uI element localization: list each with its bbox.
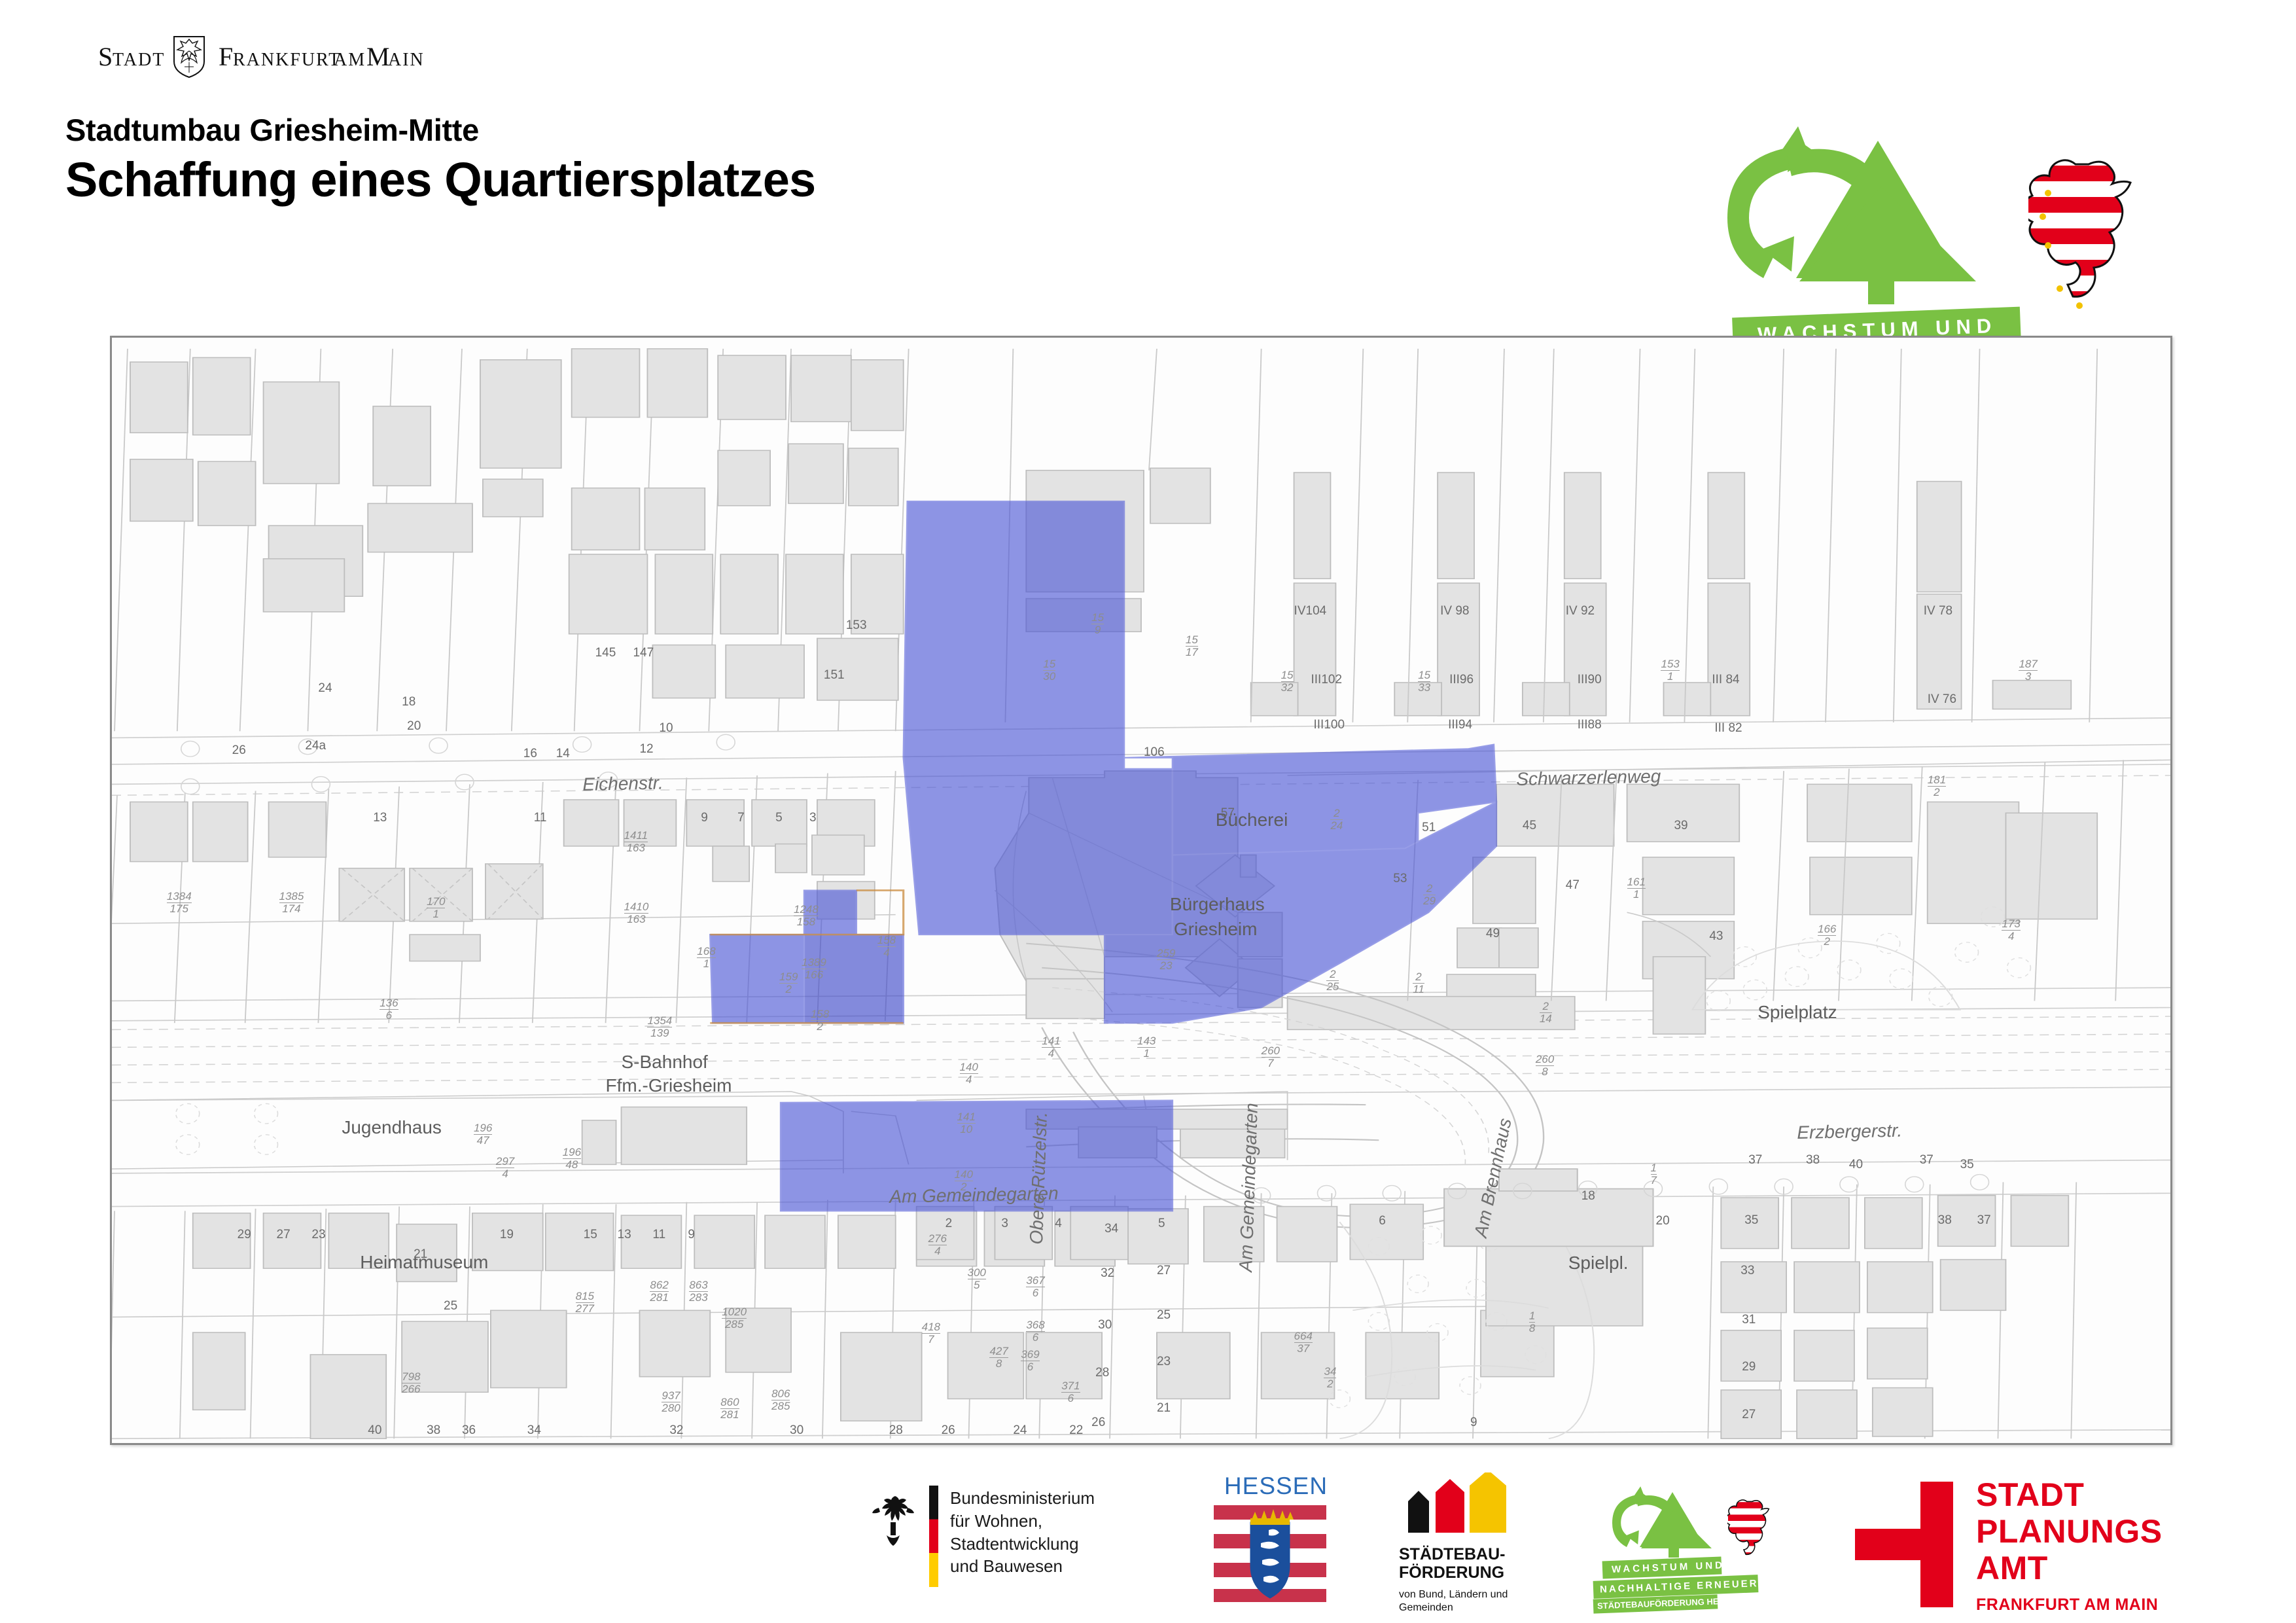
- parcel-number: 19648: [563, 1147, 581, 1170]
- parcel-number: 1533: [1418, 669, 1430, 693]
- parcel-number: 3676: [1026, 1275, 1044, 1298]
- parcel-number: 224: [1330, 808, 1343, 831]
- svg-text:M: M: [366, 42, 390, 71]
- parcel-number: 1384175: [167, 891, 192, 914]
- svg-text:RANKFURT: RANKFURT: [233, 50, 341, 70]
- parcel-number: 229: [1423, 883, 1436, 906]
- parcel-number: 2974: [496, 1156, 514, 1179]
- house-number: III100: [1313, 718, 1345, 732]
- house-number: 36: [462, 1423, 476, 1438]
- program-footer-band2: NACHHALTIGE ERNEUERUNG: [1593, 1575, 1759, 1599]
- bmwsb-line1: Bundesministerium: [950, 1487, 1171, 1510]
- program-logo-footer: WACHSTUM UND NACHHALTIGE ERNEUERUNG STÄD…: [1606, 1472, 1803, 1623]
- house-number: 37: [1920, 1153, 1934, 1168]
- house-number: 3: [1001, 1217, 1008, 1231]
- hessen-logo: HESSEN: [1214, 1472, 1338, 1623]
- house-number: 47: [1566, 878, 1580, 893]
- house-number: 45: [1523, 819, 1536, 833]
- parcel-number: 1681: [697, 946, 715, 969]
- house-number: 6: [1379, 1214, 1386, 1228]
- parcel-number: 1582: [811, 1008, 829, 1032]
- house-number: 9: [701, 811, 708, 825]
- spa-line1: STADT: [1976, 1476, 2163, 1513]
- house-number: 2: [945, 1217, 953, 1231]
- house-number: 20: [407, 719, 421, 734]
- house-number: 15: [584, 1228, 597, 1242]
- house-number: 106: [1144, 745, 1165, 760]
- parcel-number: 25923: [1157, 948, 1175, 971]
- parcel-number: 1531: [1661, 658, 1679, 682]
- house-number: 28: [1095, 1366, 1109, 1380]
- svg-text:TADT: TADT: [113, 50, 165, 70]
- house-number: 13: [373, 811, 387, 825]
- house-number: 32: [1101, 1266, 1114, 1281]
- house-number: IV 92: [1566, 604, 1595, 618]
- house-number: III 82: [1714, 721, 1742, 736]
- house-number: III94: [1448, 718, 1472, 732]
- svg-text:F: F: [219, 42, 233, 71]
- parcel-number: 1584: [877, 935, 896, 958]
- project-subtitle: Stadtumbau Griesheim-Mitte: [65, 115, 815, 145]
- house-number: IV 78: [1924, 604, 1952, 618]
- house-number: 38: [427, 1423, 440, 1438]
- parcel-number: 4278: [989, 1346, 1008, 1369]
- house-number: 13: [618, 1228, 631, 1242]
- three-houses-icon: [1399, 1472, 1517, 1533]
- house-number: 38: [1806, 1153, 1820, 1168]
- house-number: III96: [1449, 673, 1474, 687]
- house-number: 34: [527, 1423, 541, 1438]
- house-number: 27: [1157, 1264, 1171, 1278]
- hessen-lion-icon: [2028, 154, 2153, 317]
- house-number: 32: [669, 1423, 683, 1438]
- house-number: 30: [1098, 1318, 1112, 1332]
- parcel-number: 214: [1540, 1001, 1552, 1024]
- house-number: 3: [809, 811, 817, 825]
- parcel-number: 4187: [922, 1321, 940, 1345]
- house-number: 24: [1013, 1423, 1027, 1438]
- parcel-number: 1532: [1281, 669, 1294, 693]
- parcel-number: 815277: [576, 1291, 594, 1314]
- parcel-number: 1701: [427, 896, 445, 919]
- svg-text:AM: AM: [334, 50, 366, 70]
- house-number: 9: [688, 1228, 695, 1242]
- house-number: 16: [523, 747, 537, 761]
- house-number: 35: [1744, 1213, 1758, 1228]
- house-number: 21: [1157, 1401, 1171, 1416]
- house-number: 27: [1742, 1408, 1756, 1422]
- house-number: 18: [1581, 1189, 1595, 1204]
- house-number: 145: [595, 646, 616, 660]
- title-block: Stadtumbau Griesheim-Mitte Schaffung ein…: [65, 115, 815, 204]
- bmwsb-text: Bundesministerium für Wohnen, Stadtentwi…: [950, 1487, 1171, 1578]
- house-number: 20: [1656, 1214, 1670, 1228]
- parcel-number: 211: [1413, 971, 1424, 995]
- house-number: 23: [1157, 1355, 1171, 1369]
- svg-text:S: S: [98, 42, 113, 71]
- house-number: 147: [633, 646, 654, 660]
- house-number: 27: [277, 1228, 291, 1242]
- house-number: 33: [1740, 1264, 1754, 1278]
- house-number: 5: [775, 811, 783, 825]
- parcel-number: 1592: [779, 971, 798, 995]
- city-of-frankfurt-logo: S TADT F RANKFURT AM M AIN: [98, 31, 517, 79]
- house-number: 14: [556, 747, 570, 761]
- house-number: 24a: [305, 739, 326, 753]
- parcel-number: 1431: [1137, 1035, 1156, 1059]
- recycling-arrow-tree-icon: [1606, 1484, 1744, 1563]
- parcel-number: 342: [1324, 1366, 1336, 1389]
- parcel-number: 2607: [1262, 1045, 1280, 1069]
- staedtebau-sub-line1: von Bund, Ländern und: [1399, 1588, 1557, 1601]
- house-number: 37: [1977, 1213, 1991, 1228]
- frankfurt-wordmark-icon: S TADT F RANKFURT AM M AIN: [98, 31, 517, 79]
- house-number: 40: [368, 1423, 381, 1438]
- stadtplanungsamt-mark-icon: [1848, 1482, 1953, 1607]
- house-number: 9: [1470, 1416, 1477, 1430]
- funding-logo-bar: Bundesministerium für Wohnen, Stadtentwi…: [0, 1472, 2296, 1623]
- house-number: 53: [1393, 872, 1407, 886]
- house-number: 51: [1422, 821, 1436, 835]
- staedtebau-sub-line2: Gemeinden: [1399, 1601, 1557, 1614]
- house-number: III88: [1578, 718, 1602, 732]
- house-number: 19: [500, 1228, 514, 1242]
- parcel-number: 1611: [1627, 876, 1646, 900]
- house-number: 39: [1674, 819, 1687, 833]
- parcel-number: 1530: [1043, 658, 1055, 682]
- parcel-number: 225: [1326, 969, 1339, 992]
- parcel-number: 3716: [1061, 1380, 1080, 1404]
- house-number: 18: [402, 695, 415, 709]
- recycling-arrow-tree-icon: [1714, 121, 2055, 317]
- staedtebau-title: STÄDTEBAU- FÖRDERUNG: [1399, 1545, 1557, 1582]
- parcel-number: 860281: [720, 1397, 739, 1420]
- spa-line3: AMT: [1976, 1550, 2163, 1586]
- house-number: 37: [1748, 1153, 1762, 1168]
- spa-subtitle: FRANKFURT AM MAIN: [1976, 1596, 2163, 1614]
- staedtebau-title-line2: FÖRDERUNG: [1399, 1563, 1557, 1582]
- parcel-number: 1404: [960, 1061, 978, 1085]
- hessen-wordmark: HESSEN: [1214, 1472, 1338, 1500]
- house-number: 12: [639, 742, 653, 757]
- house-number: 40: [1849, 1158, 1863, 1172]
- house-number: III 84: [1712, 673, 1739, 687]
- parcel-number: 806285: [771, 1388, 790, 1412]
- parcel-number: 19647: [474, 1122, 492, 1146]
- parcel-number: 159: [1091, 612, 1104, 635]
- house-number: 26: [232, 743, 246, 758]
- spa-line2: PLANUNGS: [1976, 1513, 2163, 1550]
- parcel-number: 1402: [955, 1169, 973, 1192]
- staedtebau-title-line1: STÄDTEBAU-: [1399, 1545, 1557, 1563]
- hessen-coat-of-arms-icon: [1214, 1504, 1326, 1603]
- parcel-number: 1354139: [647, 1015, 672, 1039]
- parcel-number: 3686: [1026, 1319, 1044, 1343]
- house-number: III90: [1578, 673, 1602, 687]
- house-number: 22: [1069, 1423, 1083, 1438]
- parcel-number: 1734: [2002, 918, 2020, 942]
- parcel-number: 14110: [957, 1111, 976, 1135]
- parcel-number: 3696: [1021, 1349, 1039, 1372]
- parcel-number: 1385174: [279, 891, 304, 914]
- house-number: 29: [1742, 1360, 1756, 1374]
- map-drawing: [112, 338, 2170, 1443]
- house-number: 11: [652, 1228, 665, 1242]
- parcel-number: 3005: [968, 1267, 986, 1291]
- staedtebau-subtitle: von Bund, Ländern und Gemeinden: [1399, 1588, 1557, 1614]
- house-number: 30: [790, 1423, 804, 1438]
- parcel-number: 1517: [1186, 634, 1198, 658]
- parcel-number: 1410163: [624, 901, 649, 925]
- house-number: 5: [1158, 1217, 1165, 1231]
- house-number: 26: [1091, 1416, 1105, 1430]
- house-number: 23: [311, 1228, 325, 1242]
- stadtplanungsamt-logo: STADT PLANUNGS AMT FRANKFURT AM MAIN: [1848, 1472, 2189, 1623]
- house-number: 28: [889, 1423, 903, 1438]
- parcel-number: 862281: [650, 1279, 668, 1303]
- bmwsb-line2: für Wohnen, Stadtentwicklung: [950, 1510, 1171, 1556]
- german-flag-bar-icon: [929, 1486, 938, 1587]
- parcel-number: 17: [1651, 1162, 1657, 1186]
- house-number: 29: [238, 1228, 251, 1242]
- federal-eagle-icon: [870, 1492, 916, 1551]
- bmwsb-line3: und Bauwesen: [950, 1555, 1171, 1578]
- house-number: 35: [1960, 1158, 1974, 1172]
- parcel-number: 1389166: [802, 957, 826, 980]
- house-number: 57: [1221, 806, 1235, 821]
- house-number: IV 98: [1440, 604, 1469, 618]
- program-footer-band1: WACHSTUM UND: [1602, 1557, 1722, 1579]
- parcel-number: 66437: [1294, 1330, 1313, 1354]
- house-number: 38: [1938, 1213, 1952, 1228]
- house-number: IV104: [1294, 604, 1327, 618]
- parcel-number: 1662: [1818, 923, 1836, 947]
- parcel-number: 2608: [1536, 1054, 1554, 1077]
- house-number: 26: [942, 1423, 955, 1438]
- house-number: 31: [1742, 1313, 1756, 1327]
- parcel-number: 1248158: [794, 904, 819, 927]
- hessen-lion-icon: [1727, 1497, 1778, 1563]
- house-number: 49: [1486, 927, 1500, 941]
- parcel-number: 1812: [1928, 774, 1946, 798]
- parcel-number: 1873: [2019, 658, 2037, 682]
- parcel-number: 1020285: [722, 1306, 747, 1330]
- stadtplanungsamt-text: STADT PLANUNGS AMT FRANKFURT AM MAIN: [1976, 1476, 2163, 1614]
- house-number: 153: [846, 618, 867, 633]
- house-number: III102: [1311, 673, 1343, 687]
- house-number: 25: [444, 1299, 457, 1313]
- house-number: 151: [824, 668, 845, 683]
- house-number: 25: [1157, 1308, 1171, 1323]
- house-number: 10: [659, 721, 673, 736]
- house-number: IV 76: [1928, 692, 1956, 707]
- house-number: 4: [1055, 1217, 1062, 1231]
- cadastral-map[interactable]: Eichenstr.SchwarzerlenwegErzbergerstr.Am…: [110, 336, 2172, 1445]
- house-number: 7: [737, 811, 745, 825]
- house-number: 34: [1104, 1222, 1118, 1236]
- page-title: Schaffung eines Quartiersplatzes: [65, 156, 815, 204]
- house-number: 24: [318, 681, 332, 696]
- bmwsb-logo: Bundesministerium für Wohnen, Stadtentwi…: [870, 1472, 1171, 1623]
- house-number: 11: [534, 811, 547, 825]
- parcel-number: 863283: [689, 1279, 707, 1303]
- house-number: 21: [414, 1247, 427, 1262]
- parcel-number: 1411163: [624, 830, 648, 853]
- parcel-number: 18: [1529, 1310, 1535, 1334]
- parcel-number: 1414: [1042, 1035, 1060, 1059]
- parcel-number: 937280: [662, 1390, 680, 1414]
- house-number: 43: [1709, 929, 1723, 944]
- parcel-number: 2764: [928, 1233, 947, 1257]
- staedtebaufoerderung-logo: STÄDTEBAU- FÖRDERUNG von Bund, Ländern u…: [1387, 1472, 1557, 1623]
- parcel-number: 1366: [380, 997, 398, 1021]
- parcel-number: 798266: [402, 1371, 420, 1395]
- svg-text:AIN: AIN: [388, 50, 425, 70]
